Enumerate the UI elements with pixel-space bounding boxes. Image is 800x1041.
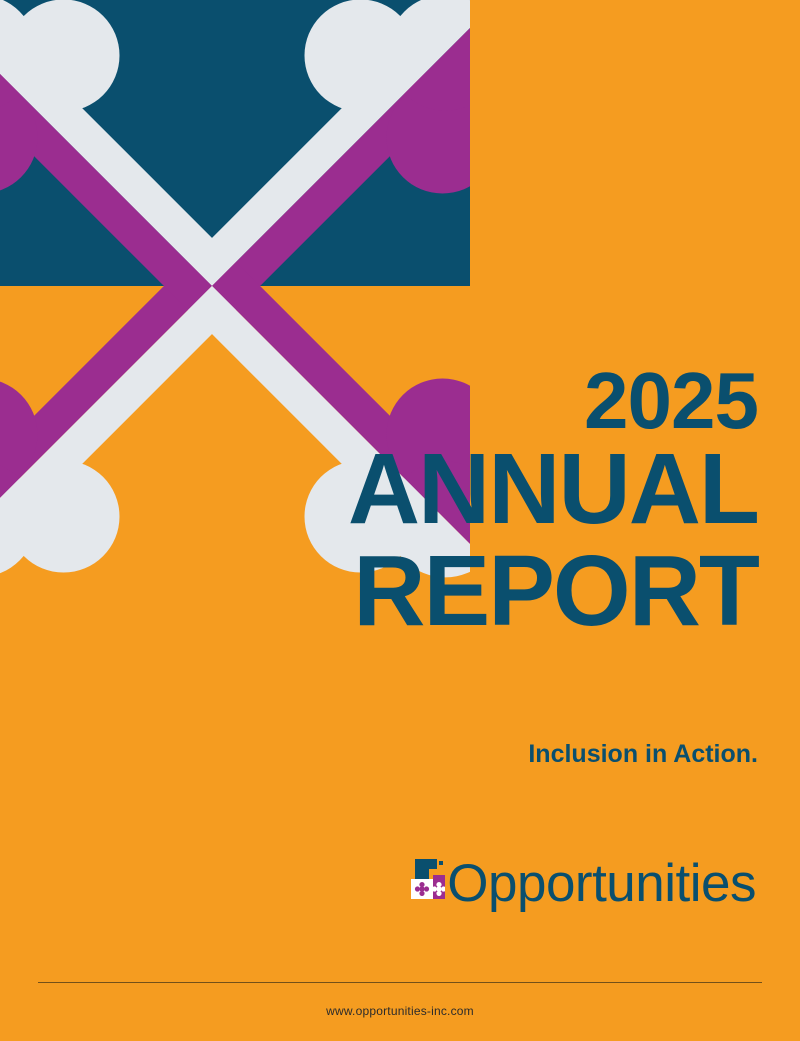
footer-divider xyxy=(38,982,762,983)
report-title-line-2: REPORT xyxy=(238,540,758,642)
report-year: 2025 xyxy=(238,364,758,438)
organization-logo: Opportunities xyxy=(411,856,762,909)
organization-wordmark: Opportunities xyxy=(447,857,756,910)
report-title-line-1: ANNUAL xyxy=(238,438,758,540)
report-cover-page: 2025 ANNUAL REPORT Inclusion in Action. xyxy=(0,0,800,1041)
cover-title-block: 2025 ANNUAL REPORT xyxy=(238,364,758,642)
footer-website-url: www.opportunities-inc.com xyxy=(0,1004,800,1018)
cover-tagline: Inclusion in Action. xyxy=(238,740,758,769)
